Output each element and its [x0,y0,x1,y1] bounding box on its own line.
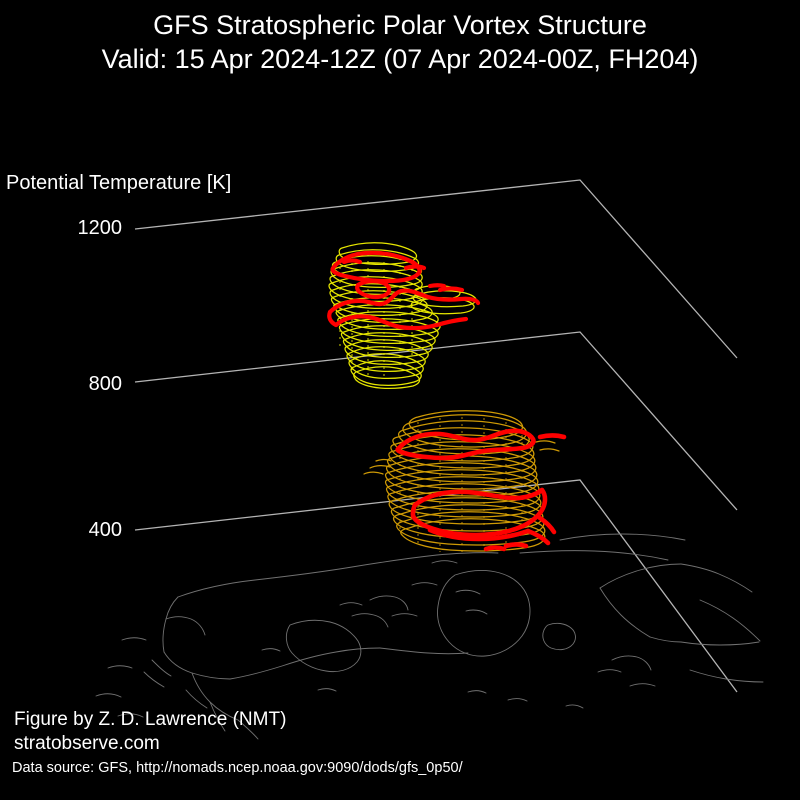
z-tick-label-400: 400 [42,519,122,542]
z-tick-label-1200: 1200 [42,217,122,240]
z-axis-label: Potential Temperature [K] [6,172,231,195]
figure-canvas: GFS Stratospheric Polar Vortex Structure… [0,0,800,800]
figure-website: stratobserve.com [14,732,286,756]
z-tick-label-800: 800 [42,373,122,396]
vortex-3d-scene [0,0,800,800]
figure-author: Figure by Z. D. Lawrence (NMT) [14,708,286,732]
frame-level-800 [135,332,737,510]
data-source-note: Data source: GFS, http://nomads.ncep.noa… [12,760,463,776]
credit-block: Figure by Z. D. Lawrence (NMT) stratobse… [14,708,286,756]
frame-level-400 [135,480,737,692]
